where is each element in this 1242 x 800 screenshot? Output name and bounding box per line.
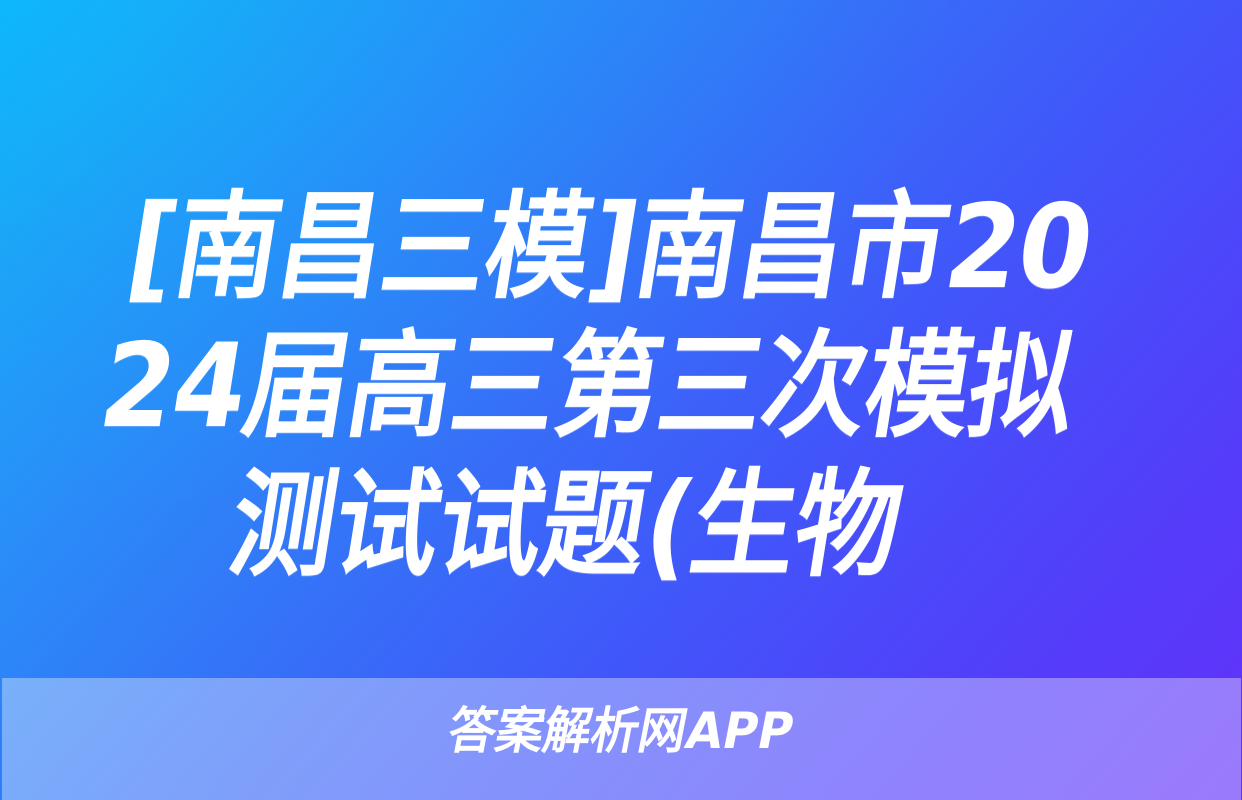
watermark-label: 答案解析网APP: [444, 706, 798, 756]
page-title: [南昌三模]南昌市2024届高三第三次模拟测试试题(生物: [69, 178, 1107, 595]
title-block: [南昌三模]南昌市2024届高三第三次模拟测试试题(生物: [0, 178, 1242, 618]
watermark-block: 答案解析网APP: [0, 698, 1242, 764]
share-card: [南昌三模]南昌市2024届高三第三次模拟测试试题(生物 答案解析网APP: [0, 0, 1242, 800]
